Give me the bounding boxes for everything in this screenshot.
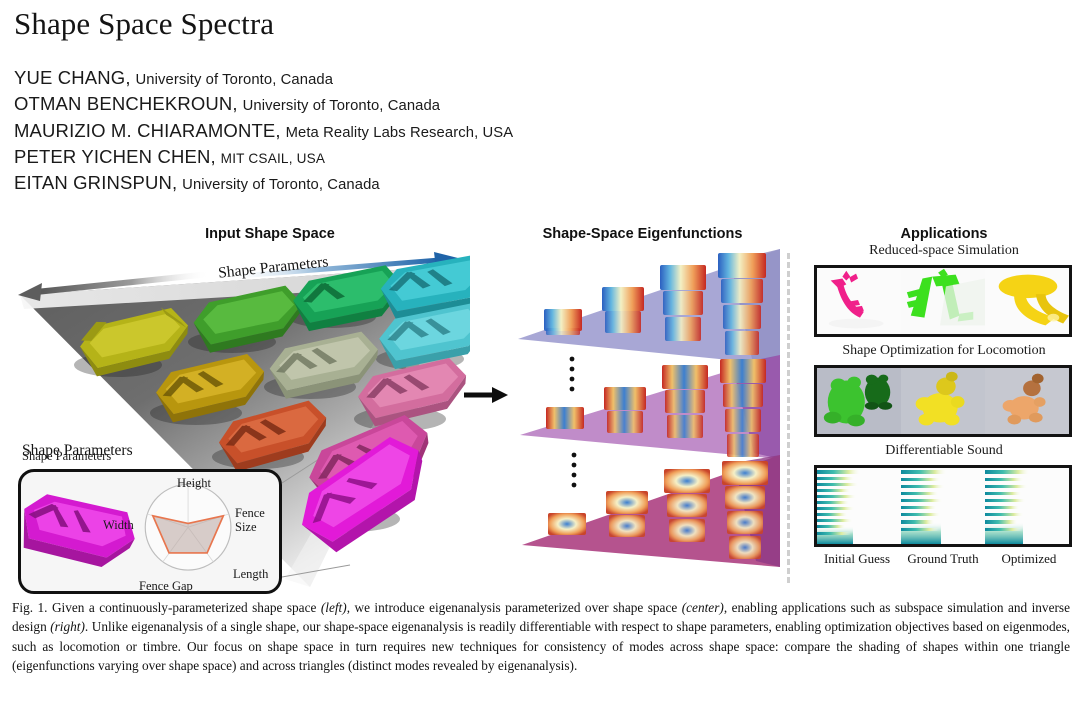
app-cell-spectrogram-ground-truth [901, 468, 985, 544]
caption-em-center: (center) [682, 600, 724, 615]
caption-optimized: Optimized [986, 551, 1072, 567]
radar-label-fence-size-line1: Fence [235, 506, 265, 520]
spectrogram-optimized [985, 468, 1069, 544]
author-row: EITAN GRINSPUN, University of Toronto, C… [14, 171, 914, 197]
author-affiliation: MIT CSAIL, USA [221, 151, 326, 166]
radar-label-width: Width [103, 518, 134, 533]
app-title-shape-optimization: Shape Optimization for Locomotion [808, 343, 1080, 359]
eigenfunction-triangles-svg [500, 247, 785, 595]
app-box-differentiable-sound [814, 465, 1072, 547]
radar-chart [145, 484, 231, 570]
page-title: Shape Space Spectra [14, 6, 274, 42]
author-affiliation: University of Toronto, Canada [182, 177, 380, 193]
panel-heading-input-shape-space: Input Shape Space [140, 226, 400, 242]
author-affiliation: University of Toronto, Canada [136, 72, 334, 88]
caption-initial-guess: Initial Guess [814, 551, 900, 567]
panel-divider [787, 253, 790, 583]
app-cell-pink-bar-sim [817, 268, 901, 334]
author-name: YUE CHANG, [14, 67, 131, 88]
spectrogram-ground-truth [901, 468, 985, 544]
app-cell-spectrogram-optimized [985, 468, 1069, 544]
caption-em-right: (right) [50, 619, 85, 634]
app-box-reduced-space-simulation [814, 265, 1072, 337]
app-cell-green-frog [817, 368, 901, 434]
app-cell-yellow-bar-sim [985, 268, 1069, 334]
teaser-figure: Input Shape Space Shape-Space Eigenfunct… [0, 225, 1080, 595]
radar-label-length: Length [233, 567, 268, 582]
input-shape-space-panel: Shape Parameters Shape Parameters Shape … [0, 247, 470, 595]
author-name: OTMAN BENCHEKROUN, [14, 93, 238, 114]
radar-label-height: Height [177, 476, 211, 491]
author-name: EITAN GRINSPUN, [14, 172, 177, 193]
author-name: MAURIZIO M. CHIARAMONTE, [14, 120, 281, 141]
app-box-shape-optimization [814, 365, 1072, 437]
radar-label-fence-size: Fence Size [235, 506, 265, 534]
eigenfunctions-panel [500, 247, 785, 595]
app-title-reduced-space-simulation: Reduced-space Simulation [808, 243, 1080, 259]
shape-parameters-inset: Height Fence Size Length Fence Gap Width [18, 469, 282, 594]
author-affiliation: University of Toronto, Canada [243, 98, 441, 114]
figure-caption: Fig. 1. Given a continuously-parameteriz… [12, 598, 1070, 676]
panel-heading-eigenfunctions: Shape-Space Eigenfunctions [500, 226, 785, 242]
caption-ground-truth: Ground Truth [900, 551, 986, 567]
author-list: YUE CHANG, University of Toronto, Canada… [14, 66, 914, 197]
radar-label-fence-size-line2: Size [235, 520, 257, 534]
author-row: YUE CHANG, University of Toronto, Canada [14, 66, 914, 92]
caption-text-4: . Unlike eigenanalysis of a single shape… [12, 619, 1070, 673]
inset-title: Shape Parameters [22, 449, 111, 464]
caption-em-left: (left) [321, 600, 347, 615]
ellipsis-dots-1 [570, 357, 575, 392]
author-row: OTMAN BENCHEKROUN, University of Toronto… [14, 92, 914, 118]
app-cell-green-bar-sim [901, 268, 985, 334]
app-cell-orange-armadillo [985, 368, 1069, 434]
figure-number: Fig. 1. [12, 600, 48, 615]
spectrogram-initial [817, 468, 901, 544]
radar-label-fence-gap: Fence Gap [139, 579, 193, 594]
caption-text-1: Given a continuously-parameterized shape… [48, 600, 321, 615]
app-title-differentiable-sound: Differentiable Sound [808, 443, 1080, 459]
app-cell-yellow-creature [901, 368, 985, 434]
caption-text-2: , we introduce eigenanalysis parameteriz… [347, 600, 682, 615]
author-name: PETER YICHEN CHEN, [14, 146, 216, 167]
applications-panel: Reduced-space Simulation [808, 225, 1080, 595]
app-cell-spectrogram-initial [817, 468, 901, 544]
ellipsis-dots-2 [572, 453, 577, 488]
author-affiliation: Meta Reality Labs Research, USA [286, 125, 514, 141]
sound-cell-captions: Initial Guess Ground Truth Optimized [814, 551, 1072, 567]
author-row: MAURIZIO M. CHIARAMONTE, Meta Reality La… [14, 119, 914, 145]
author-row: PETER YICHEN CHEN, MIT CSAIL, USA [14, 145, 914, 171]
